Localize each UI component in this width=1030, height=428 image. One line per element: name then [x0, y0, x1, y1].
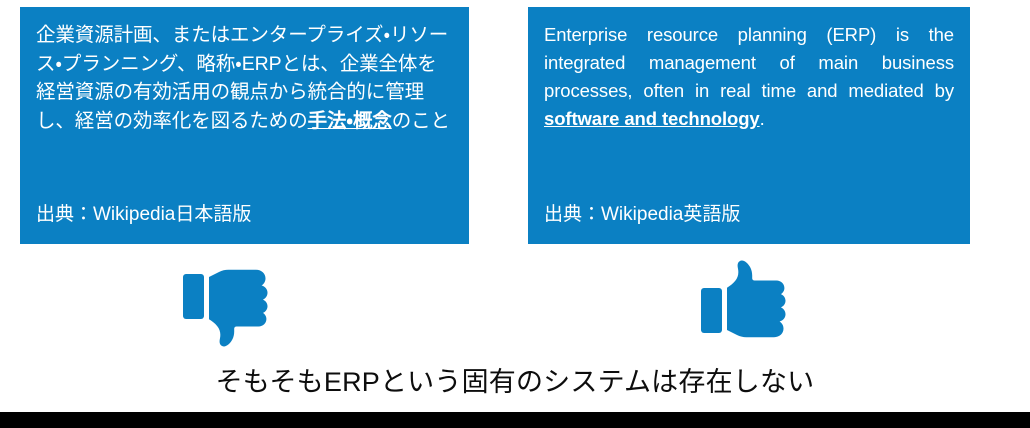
quote-emphasis-english: software and technology [544, 108, 760, 129]
source-label-japanese: 出典：Wikipedia日本語版 [36, 203, 251, 228]
thumbs-down-icon [183, 265, 279, 351]
source-wrap-japanese: 出典：Wikipedia日本語版 [36, 203, 251, 228]
quote-text-english: Enterprise resource planning (ERP) is th… [544, 21, 954, 133]
quote-panel-english: Enterprise resource planning (ERP) is th… [528, 7, 970, 244]
quote-text-japanese-after: のこと [392, 110, 450, 132]
slide-canvas: 企業資源計画、またはエンタープライズ・リソース・プランニング、略称・ERPとは、… [0, 0, 1030, 428]
bottom-bar [0, 412, 1030, 428]
source-wrap-english: 出典：Wikipedia英語版 [544, 203, 740, 228]
quote-text-japanese: 企業資源計画、またはエンタープライズ・リソース・プランニング、略称・ERPとは、… [36, 21, 453, 136]
quote-panel-japanese: 企業資源計画、またはエンタープライズ・リソース・プランニング、略称・ERPとは、… [20, 7, 469, 244]
source-label-english: 出典：Wikipedia英語版 [544, 203, 740, 228]
thumbs-up-icon [701, 256, 797, 342]
quote-emphasis-japanese: 手法・概念 [308, 110, 392, 132]
quote-text-english-after: . [760, 108, 765, 129]
slide-caption: そもそもERPという固有のシステムは存在しない [0, 366, 1030, 398]
quote-text-english-before: Enterprise resource planning (ERP) is th… [544, 24, 954, 101]
